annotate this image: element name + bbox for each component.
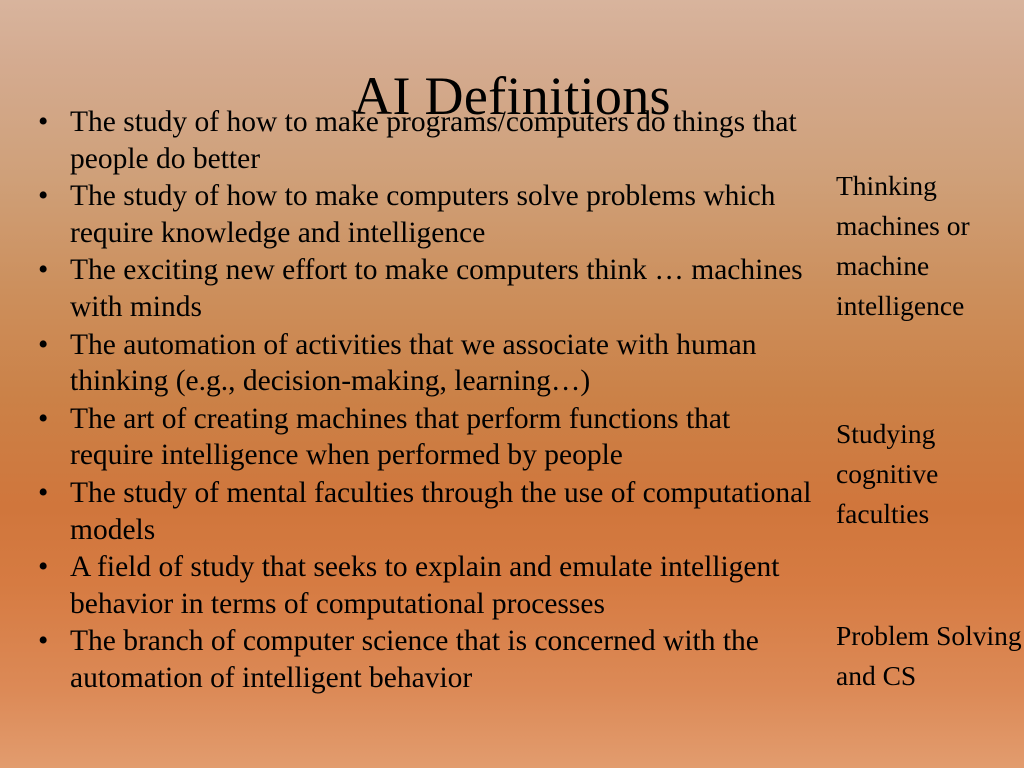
slide: AI Definitions • The study of how to mak… — [0, 0, 1024, 768]
bullet-icon: • — [38, 178, 58, 215]
bullet-icon: • — [38, 327, 58, 364]
list-item: • A field of study that seeks to explain… — [28, 549, 818, 622]
list-item: • The study of how to make computers sol… — [28, 178, 818, 251]
list-item-label: The automation of activities that we ass… — [70, 327, 818, 400]
bullet-icon: • — [38, 401, 58, 438]
list-item-label: The study of mental faculties through th… — [70, 475, 818, 548]
list-item: • The branch of computer science that is… — [28, 623, 818, 696]
bullet-icon: • — [38, 623, 58, 660]
list-item-label: The art of creating machines that perfor… — [70, 401, 818, 474]
list-item: • The art of creating machines that perf… — [28, 401, 818, 474]
category-label-thinking-machines: Thinking machines or machine intelligenc… — [836, 166, 1024, 326]
bullet-icon: • — [38, 475, 58, 512]
category-label-problem-solving: Problem Solving and CS — [836, 616, 1024, 696]
list-item-label: The branch of computer science that is c… — [70, 623, 818, 696]
list-item: • The exciting new effort to make comput… — [28, 252, 818, 325]
list-item-label: The exciting new effort to make computer… — [70, 252, 818, 325]
list-item-label: A field of study that seeks to explain a… — [70, 549, 818, 622]
list-item: • The study of mental faculties through … — [28, 475, 818, 548]
bullet-icon: • — [38, 252, 58, 289]
category-label-cognitive-faculties: Studying cognitive faculties — [836, 414, 1024, 534]
definitions-list: • The study of how to make programs/comp… — [28, 104, 818, 698]
list-item: • The automation of activities that we a… — [28, 327, 818, 400]
bullet-icon: • — [38, 549, 58, 586]
bullet-icon: • — [38, 104, 58, 141]
list-item: • The study of how to make programs/comp… — [28, 104, 818, 177]
list-item-label: The study of how to make computers solve… — [70, 178, 818, 251]
list-item-label: The study of how to make programs/comput… — [70, 104, 818, 177]
